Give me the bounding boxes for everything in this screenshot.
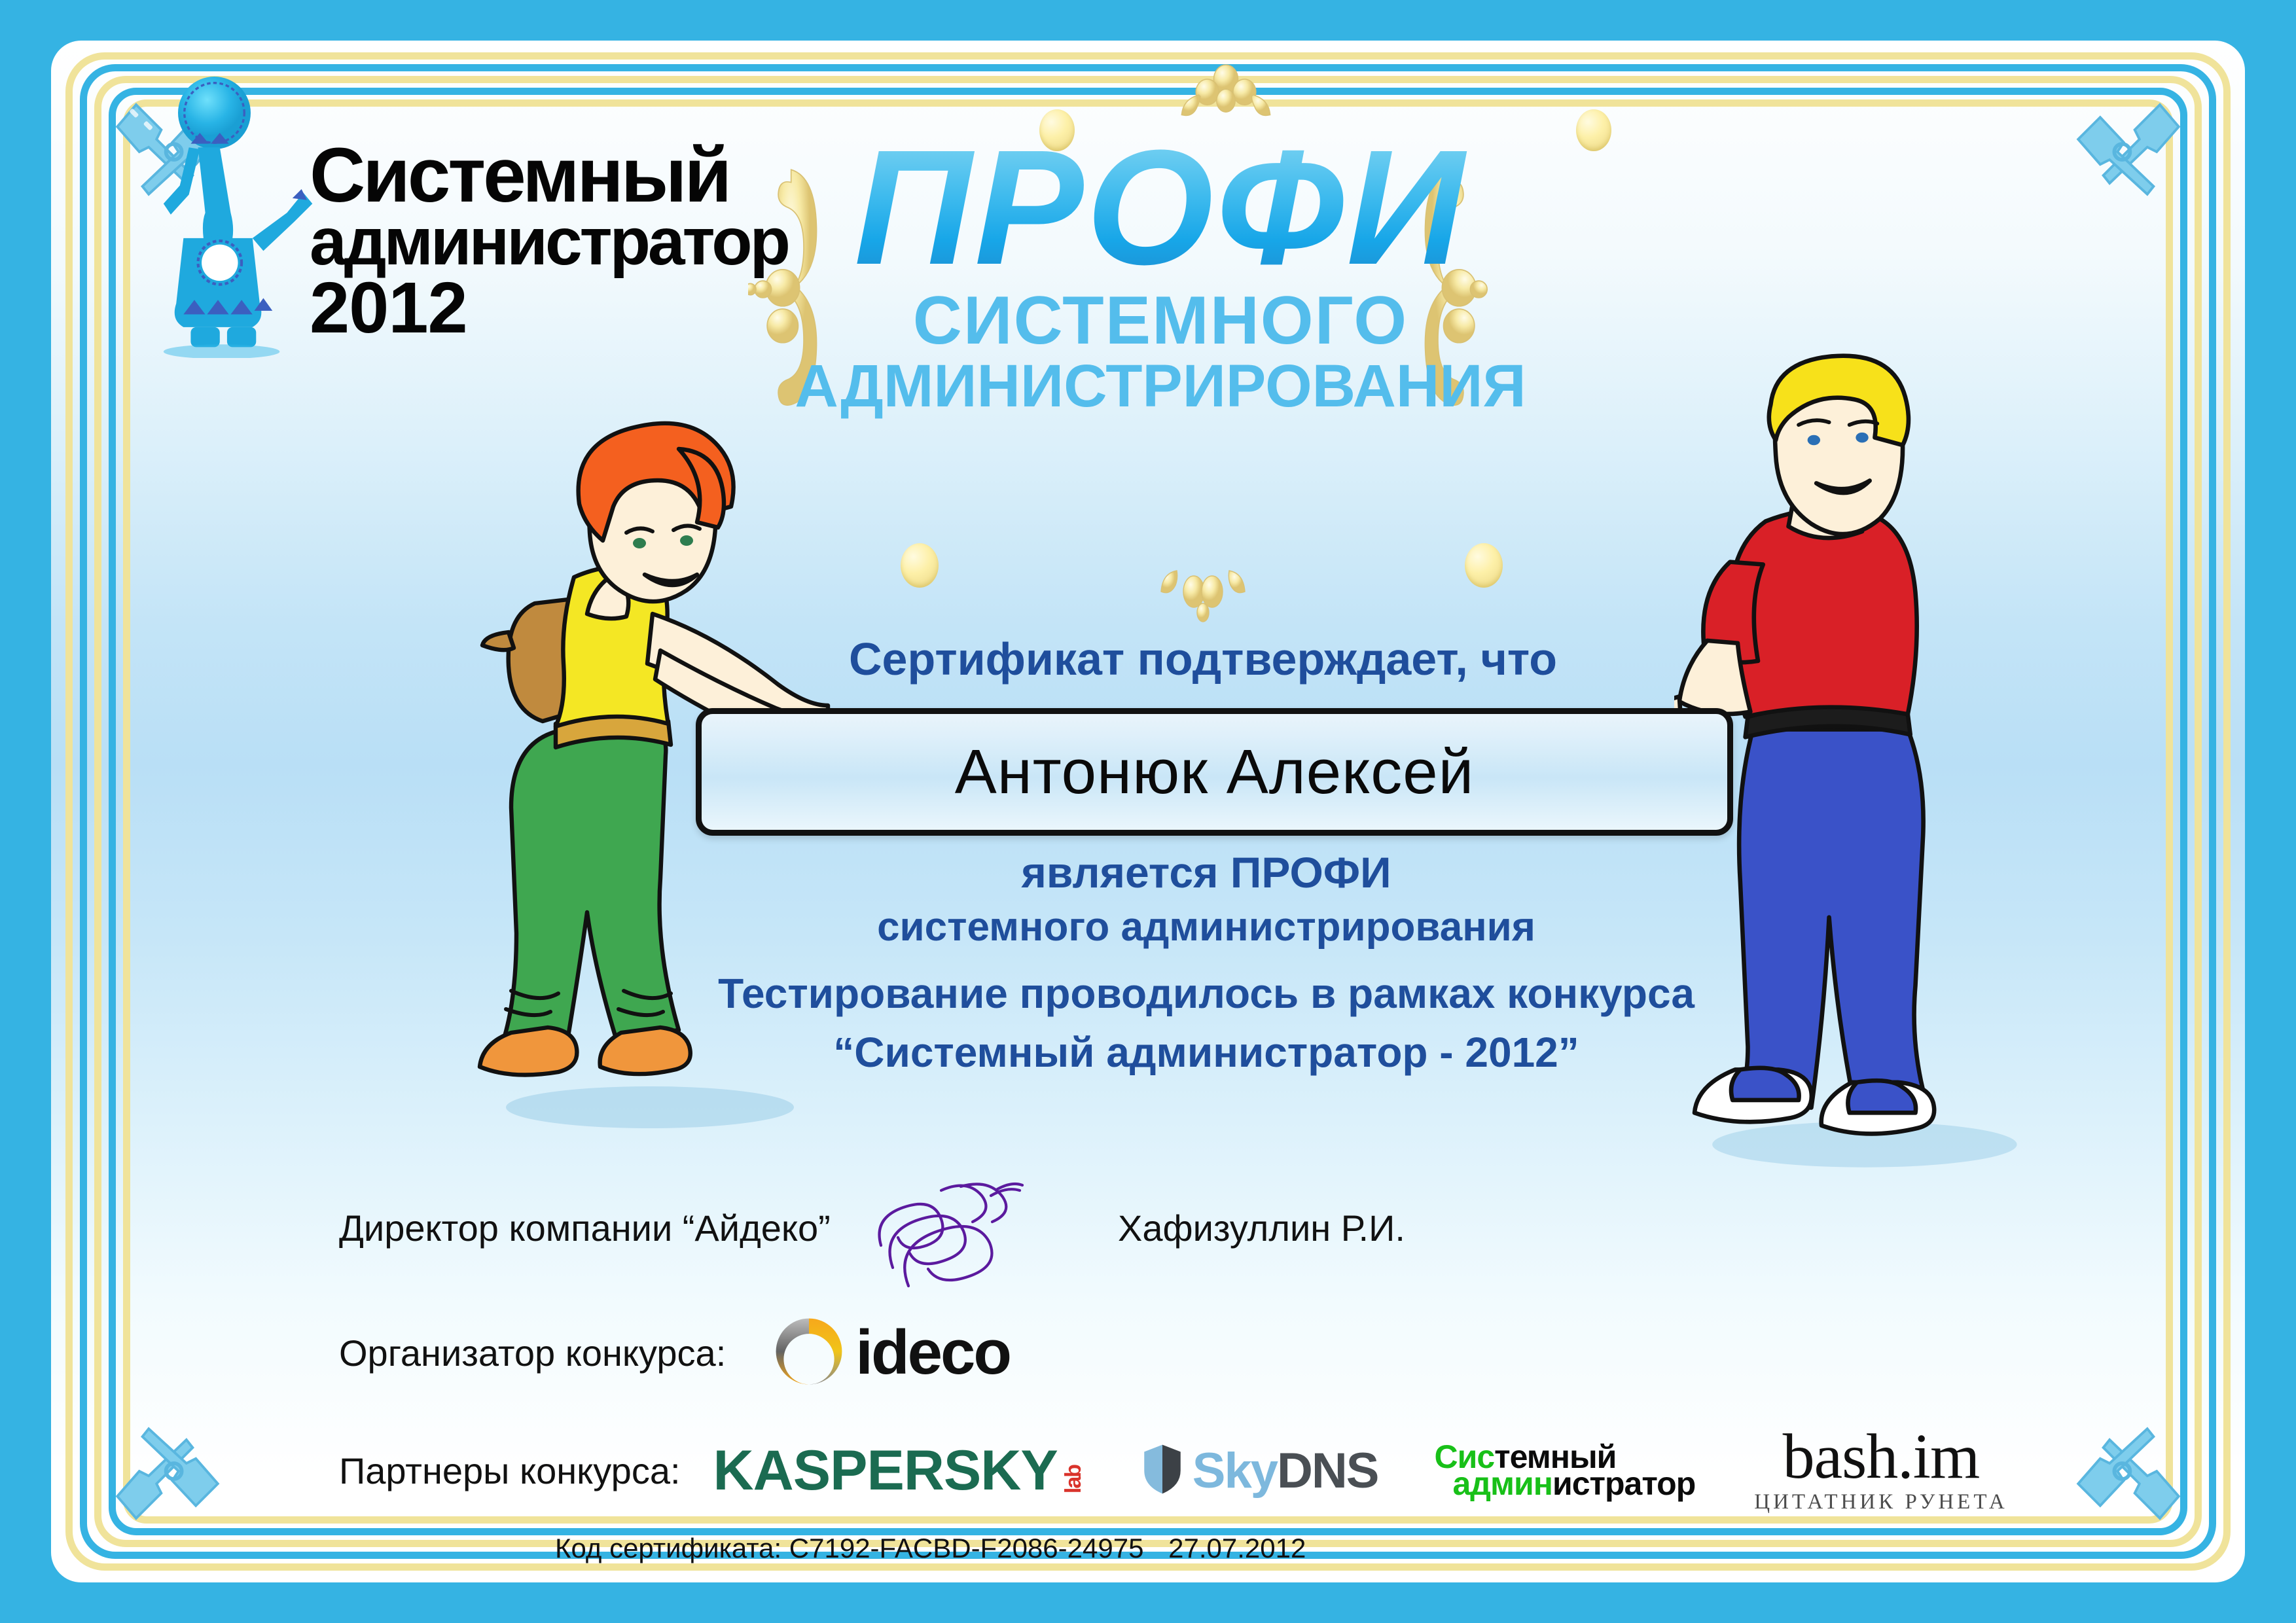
- pliers-tool-icon: [2034, 89, 2191, 246]
- boy-character-icon: [1674, 342, 2093, 1192]
- sysadmin-2012-logo: Системный администратор 2012: [143, 77, 758, 417]
- confirm-line: Сертификат подтверждает, что: [719, 633, 1687, 685]
- certificate-code-line: Код сертификата: C7192-FACBD-F2086-24975…: [555, 1533, 1306, 1564]
- bashim-tagline: ЦИТАТНИК РУНЕТА: [1754, 1490, 2007, 1514]
- handwritten-signature-icon: [863, 1169, 1059, 1294]
- sysadmin-partner-line2: администратор: [1452, 1471, 1695, 1497]
- kaspersky-lab-suffix: lab: [1061, 1465, 1086, 1493]
- ideco-ring-icon: [770, 1313, 848, 1393]
- ideco-logo: ideco: [770, 1313, 1010, 1393]
- bashim-wordmark: bash.im: [1754, 1427, 2007, 1488]
- code-label: Код сертификата:: [555, 1533, 781, 1563]
- skydns-logo-icon: SkyDNS: [1141, 1442, 1378, 1499]
- skydns-dns-text: DNS: [1277, 1443, 1378, 1499]
- recipient-nameplate: Антонюк Алексей: [696, 708, 1733, 836]
- sysadmin-black-part2: истратор: [1552, 1465, 1695, 1502]
- body-line-1: является ПРОФИ: [712, 851, 1700, 894]
- issue-date: 27.07.2012: [1168, 1533, 1306, 1563]
- sysadmin-magazine-logo-icon: Системный администратор: [1434, 1444, 1695, 1497]
- gold-dot-icon: [901, 543, 939, 588]
- partners-label: Партнеры конкурса:: [339, 1450, 681, 1492]
- skydns-wordmark: SkyDNS: [1193, 1442, 1378, 1499]
- skydns-sky-text: Sky: [1193, 1443, 1277, 1499]
- body-line-4: “Системный администратор - 2012”: [712, 1031, 1700, 1073]
- signature-name: Хафизуллин Р.И.: [1118, 1207, 1405, 1249]
- certificate-field: Системный администратор 2012: [51, 41, 2245, 1582]
- body-line-3: Тестирование проводилось в рамках конкур…: [712, 972, 1700, 1014]
- sysadmin-green-part2: админ: [1452, 1465, 1552, 1502]
- page-title: ПРОФИ СИСТЕМНОГО АДМИНИСТРИРОВАНИЯ: [758, 132, 1563, 416]
- partners-row: Партнеры конкурса: KASPERSKY lab SkyDNS …: [339, 1418, 2119, 1523]
- sysadmin-logo-year: 2012: [310, 272, 761, 344]
- profi-title: ПРОФИ: [758, 132, 1563, 283]
- bashim-logo-icon: bash.im ЦИТАТНИК РУНЕТА: [1754, 1427, 2007, 1514]
- gold-dot-icon: [1465, 543, 1503, 588]
- organizer-label: Организатор конкурса:: [339, 1332, 726, 1374]
- certificate-page: Системный администратор 2012: [0, 0, 2296, 1623]
- certificate-body: является ПРОФИ системного администрирова…: [712, 851, 1700, 1073]
- signature-row: Директор компании “Айдеко” Хафизуллин Р.…: [339, 1199, 1452, 1277]
- pliers-tool-icon: [105, 1377, 262, 1534]
- kaspersky-logo-icon: KASPERSKY lab: [713, 1438, 1086, 1503]
- gold-flourish-ornament-icon: [1138, 558, 1268, 630]
- body-line-2: системного администрирования: [712, 907, 1700, 948]
- sysadmin-logo-line1: Системный: [310, 139, 761, 212]
- recipient-name: Антонюк Алексей: [955, 736, 1475, 808]
- code-value: C7192-FACBD-F2086-24975: [789, 1533, 1144, 1563]
- chukchi-mascot-icon: [143, 77, 326, 358]
- gold-dot-icon: [1576, 109, 1611, 151]
- sysadmin-logo-line2: администратор: [310, 208, 761, 275]
- skydns-shield-icon: [1141, 1442, 1183, 1499]
- kaspersky-wordmark: KASPERSKY: [713, 1438, 1058, 1503]
- signature-title: Директор компании “Айдеко”: [339, 1207, 831, 1249]
- organizer-row: Организатор конкурса:: [339, 1304, 1255, 1402]
- ideco-wordmark: ideco: [855, 1317, 1010, 1389]
